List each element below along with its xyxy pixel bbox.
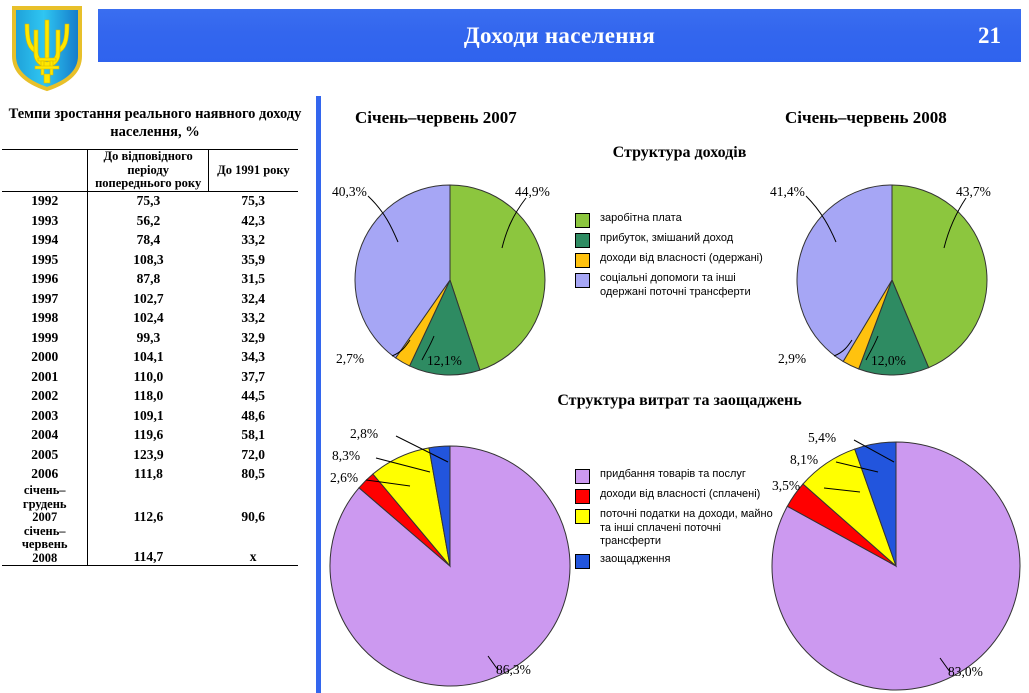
row-label: 1996 — [2, 270, 88, 290]
legend-label: прибуток, змішаний доход — [600, 232, 733, 246]
cell-base-1991: 33,2 — [208, 309, 298, 329]
cell-prev-period: 102,7 — [88, 289, 208, 309]
cell-base-1991: 32,4 — [208, 289, 298, 309]
pie-chart-income-2007: 40,3% 44,9% 12,1% 2,7% — [330, 170, 570, 380]
legend-label: доходи від власності (одержані) — [600, 252, 763, 266]
legend-color-swatch — [575, 509, 590, 524]
legend-color-swatch — [575, 233, 590, 248]
cell-prev-period: 114,7 — [88, 525, 208, 566]
row-label: 1994 — [2, 231, 88, 251]
pie-label-exp2008-savings: 5,4% — [808, 430, 836, 446]
legend-color-swatch — [575, 253, 590, 268]
table-row: 2005123,972,0 — [2, 445, 298, 465]
slide-title-bar: Доходи населення 21 — [98, 9, 1021, 62]
page-title: Доходи населення — [98, 9, 1021, 62]
period-label-2008: Січень–червень 2008 — [785, 108, 947, 128]
pie-label-income2007-profit: 12,1% — [427, 353, 462, 369]
row-label: 1995 — [2, 250, 88, 270]
row-label: 2006 — [2, 465, 88, 485]
pie-label-income2007-social: 40,3% — [332, 184, 367, 200]
pie-label-exp2007-taxes: 8,3% — [332, 448, 360, 464]
legend-label: заощадження — [600, 553, 670, 567]
cell-prev-period: 110,0 — [88, 367, 208, 387]
pie-chart-expenditure-2008: 5,4% 8,1% 3,5% 83,0% — [768, 418, 1023, 688]
table-row: 199478,433,2 — [2, 231, 298, 251]
row-label: 2002 — [2, 387, 88, 407]
legend-label: заробітна плата — [600, 212, 682, 226]
legend-expenditure-item: придбання товарів та послуг — [575, 468, 775, 484]
cell-prev-period: 56,2 — [88, 211, 208, 231]
real-income-growth-table: До відповідного періоду попереднього рок… — [2, 149, 298, 566]
table-row: 199687,831,5 — [2, 270, 298, 290]
pie-label-exp2007-savings: 2,8% — [350, 426, 378, 442]
row-label: січень–червень2008 — [2, 525, 88, 566]
cell-prev-period: 102,4 — [88, 309, 208, 329]
pie-label-exp2007-goods: 86,3% — [496, 662, 531, 678]
section-title-expenditure: Структура витрат та заощаджень — [330, 392, 1029, 410]
table-row: 199356,242,3 — [2, 211, 298, 231]
table-row: 2004119,658,1 — [2, 426, 298, 446]
pie-label-income2008-salary: 43,7% — [956, 184, 991, 200]
legend-income-item: доходи від власності (одержані) — [575, 252, 770, 268]
table-row: січень–червень2008114,7x — [2, 525, 298, 566]
legend-income-item: соціальні допомоги та інші одержані пото… — [575, 272, 770, 299]
column-header-base-1991: До 1991 року — [208, 150, 298, 192]
table-row: 2001110,037,7 — [2, 367, 298, 387]
column-header-prev-period: До відповідного періоду попереднього рок… — [88, 150, 208, 192]
legend-color-swatch — [575, 273, 590, 288]
legend-label: соціальні допомоги та інші одержані пото… — [600, 272, 770, 299]
slide-number: 21 — [978, 9, 1001, 62]
cell-base-1991: 75,3 — [208, 191, 298, 211]
cell-prev-period: 112,6 — [88, 484, 208, 525]
row-label: 1992 — [2, 191, 88, 211]
cell-prev-period: 75,3 — [88, 191, 208, 211]
legend-expenditure-item: поточні податки на доходи, майно та інші… — [575, 508, 775, 549]
cell-prev-period: 108,3 — [88, 250, 208, 270]
cell-base-1991: 37,7 — [208, 367, 298, 387]
table-row: 1995108,335,9 — [2, 250, 298, 270]
statistics-panel: Темпи зростання реального наявного доход… — [0, 100, 310, 693]
legend-expenditure: придбання товарів та послугдоходи від вл… — [575, 468, 775, 573]
legend-income-item: прибуток, змішаний доход — [575, 232, 770, 248]
section-title-income: Структура доходів — [330, 144, 1029, 162]
cell-base-1991: 48,6 — [208, 406, 298, 426]
cell-base-1991: 44,5 — [208, 387, 298, 407]
cell-base-1991: 72,0 — [208, 445, 298, 465]
row-label: 2000 — [2, 348, 88, 368]
pie-label-exp2007-property: 2,6% — [330, 470, 358, 486]
cell-prev-period: 118,0 — [88, 387, 208, 407]
cell-prev-period: 109,1 — [88, 406, 208, 426]
cell-prev-period: 87,8 — [88, 270, 208, 290]
row-label: 1993 — [2, 211, 88, 231]
pie-chart-expenditure-2007: 2,8% 8,3% 2,6% 86,3% — [330, 418, 580, 688]
row-label: 2005 — [2, 445, 88, 465]
legend-color-swatch — [575, 469, 590, 484]
charts-panel: Січень–червень 2007 Січень–червень 2008 … — [330, 100, 1029, 693]
legend-label: поточні податки на доходи, майно та інші… — [600, 508, 775, 549]
table-row: 1998102,433,2 — [2, 309, 298, 329]
cell-base-1991: 34,3 — [208, 348, 298, 368]
legend-color-swatch — [575, 213, 590, 228]
pie-label-income2008-profit: 12,0% — [871, 353, 906, 369]
table-row: 199275,375,3 — [2, 191, 298, 211]
pie-label-exp2008-goods: 83,0% — [948, 664, 983, 680]
cell-prev-period: 123,9 — [88, 445, 208, 465]
legend-income: заробітна платаприбуток, змішаний доходд… — [575, 212, 770, 303]
table-row: 2006111,880,5 — [2, 465, 298, 485]
row-label: січень–грудень2007 — [2, 484, 88, 525]
row-label: 1999 — [2, 328, 88, 348]
cell-base-1991: 80,5 — [208, 465, 298, 485]
table-row: січень–грудень2007112,690,6 — [2, 484, 298, 525]
pie-label-exp2008-property: 3,5% — [772, 478, 800, 494]
legend-expenditure-item: доходи від власності (сплачені) — [575, 488, 775, 504]
period-label-2007: Січень–червень 2007 — [355, 108, 517, 128]
column-header-year — [2, 150, 88, 192]
cell-base-1991: 32,9 — [208, 328, 298, 348]
cell-prev-period: 111,8 — [88, 465, 208, 485]
legend-color-swatch — [575, 489, 590, 504]
row-label: 1997 — [2, 289, 88, 309]
cell-prev-period: 119,6 — [88, 426, 208, 446]
legend-income-item: заробітна плата — [575, 212, 770, 228]
table-header-row: До відповідного періоду попереднього рок… — [2, 150, 298, 192]
table-row: 2000104,134,3 — [2, 348, 298, 368]
vertical-divider — [316, 96, 321, 693]
legend-expenditure-item: заощадження — [575, 553, 775, 569]
legend-label: доходи від власності (сплачені) — [600, 488, 760, 502]
row-label: 2001 — [2, 367, 88, 387]
table-row: 199999,332,9 — [2, 328, 298, 348]
cell-prev-period: 104,1 — [88, 348, 208, 368]
cell-base-1991: 42,3 — [208, 211, 298, 231]
cell-base-1991: 58,1 — [208, 426, 298, 446]
table-row: 2002118,044,5 — [2, 387, 298, 407]
pie-chart-income-2008: 41,4% 43,7% 12,0% 2,9% — [770, 170, 1010, 380]
table-row: 2003109,148,6 — [2, 406, 298, 426]
cell-base-1991: x — [208, 525, 298, 566]
cell-base-1991: 31,5 — [208, 270, 298, 290]
legend-color-swatch — [575, 554, 590, 569]
pie-label-exp2008-taxes: 8,1% — [790, 452, 818, 468]
row-label: 2003 — [2, 406, 88, 426]
cell-base-1991: 33,2 — [208, 231, 298, 251]
pie-label-income2008-property: 2,9% — [778, 351, 806, 367]
ukraine-coat-of-arms-icon — [8, 4, 86, 92]
legend-label: придбання товарів та послуг — [600, 468, 746, 482]
cell-base-1991: 90,6 — [208, 484, 298, 525]
cell-base-1991: 35,9 — [208, 250, 298, 270]
row-label: 2004 — [2, 426, 88, 446]
cell-prev-period: 78,4 — [88, 231, 208, 251]
pie-label-income2007-salary: 44,9% — [515, 184, 550, 200]
pie-label-income2008-social: 41,4% — [770, 184, 805, 200]
row-label: 1998 — [2, 309, 88, 329]
table-caption: Темпи зростання реального наявного доход… — [0, 100, 310, 145]
table-row: 1997102,732,4 — [2, 289, 298, 309]
pie-label-income2007-property: 2,7% — [336, 351, 364, 367]
cell-prev-period: 99,3 — [88, 328, 208, 348]
